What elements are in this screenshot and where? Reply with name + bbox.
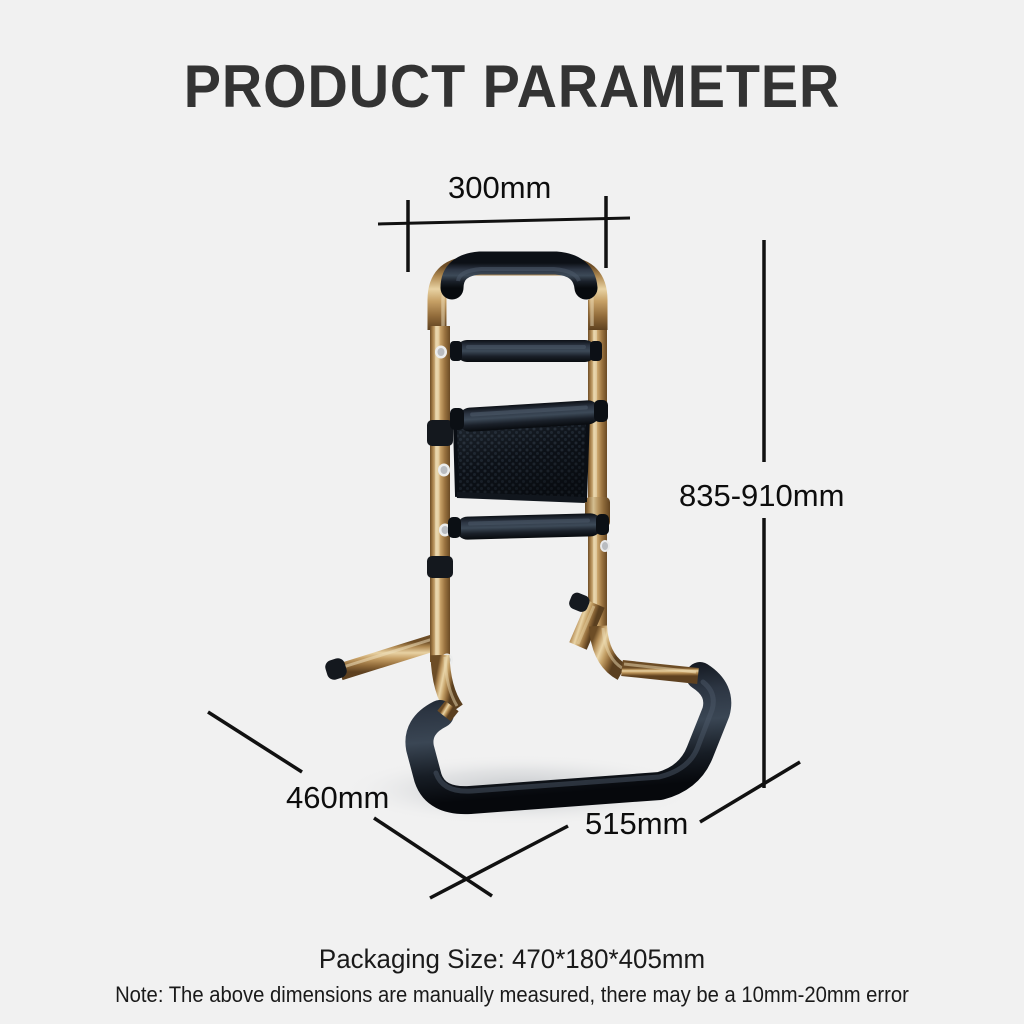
lower-crossbar-grip <box>448 513 609 540</box>
post-collar-lower <box>427 556 453 578</box>
dimension-label-height: 835-910mm <box>679 478 844 514</box>
upper-crossbar-grip <box>450 340 602 362</box>
rear-left-leg <box>324 638 436 681</box>
dimension-label-base-width: 515mm <box>585 806 688 842</box>
dimension-label-depth: 460mm <box>286 780 389 816</box>
measurement-note-text: Note: The above dimensions are manually … <box>41 982 983 1008</box>
product-illustration <box>0 0 1024 1024</box>
base-right-connector <box>622 664 698 676</box>
left-vertical-post <box>427 326 453 667</box>
dimension-label-width: 300mm <box>448 170 551 206</box>
base-left-connector <box>444 706 452 716</box>
right-post-lower <box>598 626 622 672</box>
packaging-size-text: Packaging Size: 470*180*405mm <box>20 944 1003 975</box>
post-collar-upper <box>427 420 453 446</box>
product-parameter-page: PRODUCT PARAMETER <box>0 0 1024 1024</box>
